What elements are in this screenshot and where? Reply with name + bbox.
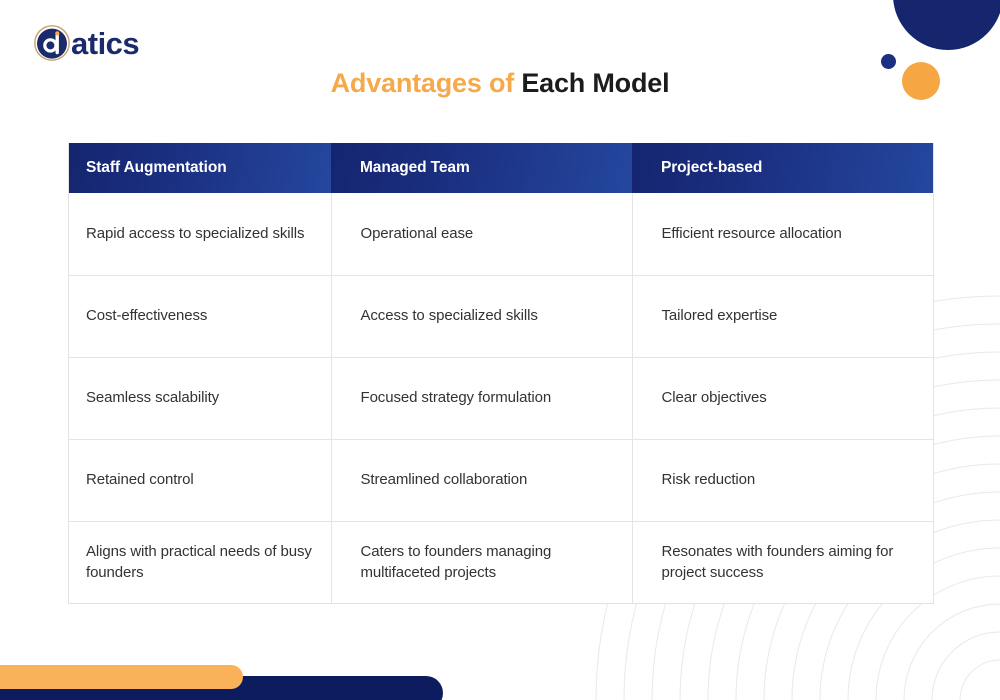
page-title-rest: Each Model <box>521 68 669 98</box>
cell-staff-augmentation-1: Rapid access to specialized skills <box>69 193 331 275</box>
cell-project-based-1: Efficient resource allocation <box>632 193 933 275</box>
column-header-staff-augmentation: Staff Augmentation <box>69 143 331 193</box>
page-title-highlight: Advantages of <box>331 68 514 98</box>
slide-content: atics Advantages of Each Model Staff Aug… <box>0 0 1000 700</box>
cell-staff-augmentation-3: Seamless scalability <box>69 357 331 439</box>
cell-staff-augmentation-5: Aligns with practical needs of busy foun… <box>69 521 331 603</box>
cell-managed-team-2: Access to specialized skills <box>331 275 632 357</box>
brand-logo: atics <box>33 24 139 62</box>
cell-managed-team-4: Streamlined collaboration <box>331 439 632 521</box>
cell-staff-augmentation-2: Cost-effectiveness <box>69 275 331 357</box>
advantages-table: Staff Augmentation Managed Team Project-… <box>68 143 934 604</box>
cell-staff-augmentation-4: Retained control <box>69 439 331 521</box>
table-row: Seamless scalability Focused strategy fo… <box>69 357 933 439</box>
column-header-project-based: Project-based <box>632 143 933 193</box>
cell-project-based-2: Tailored expertise <box>632 275 933 357</box>
cell-managed-team-1: Operational ease <box>331 193 632 275</box>
table-row: Aligns with practical needs of busy foun… <box>69 521 933 603</box>
datics-circle-logo-icon <box>33 24 71 62</box>
cell-managed-team-3: Focused strategy formulation <box>331 357 632 439</box>
cell-project-based-5: Resonates with founders aiming for proje… <box>632 521 933 603</box>
table-row: Retained control Streamlined collaborati… <box>69 439 933 521</box>
cell-project-based-4: Risk reduction <box>632 439 933 521</box>
column-header-managed-team: Managed Team <box>331 143 632 193</box>
table-row: Cost-effectiveness Access to specialized… <box>69 275 933 357</box>
page-title: Advantages of Each Model <box>0 68 1000 99</box>
cell-project-based-3: Clear objectives <box>632 357 933 439</box>
cell-managed-team-5: Caters to founders managing multifaceted… <box>331 521 632 603</box>
table-row: Rapid access to specialized skills Opera… <box>69 193 933 275</box>
table-header-row: Staff Augmentation Managed Team Project-… <box>69 143 933 193</box>
brand-name: atics <box>71 28 139 59</box>
